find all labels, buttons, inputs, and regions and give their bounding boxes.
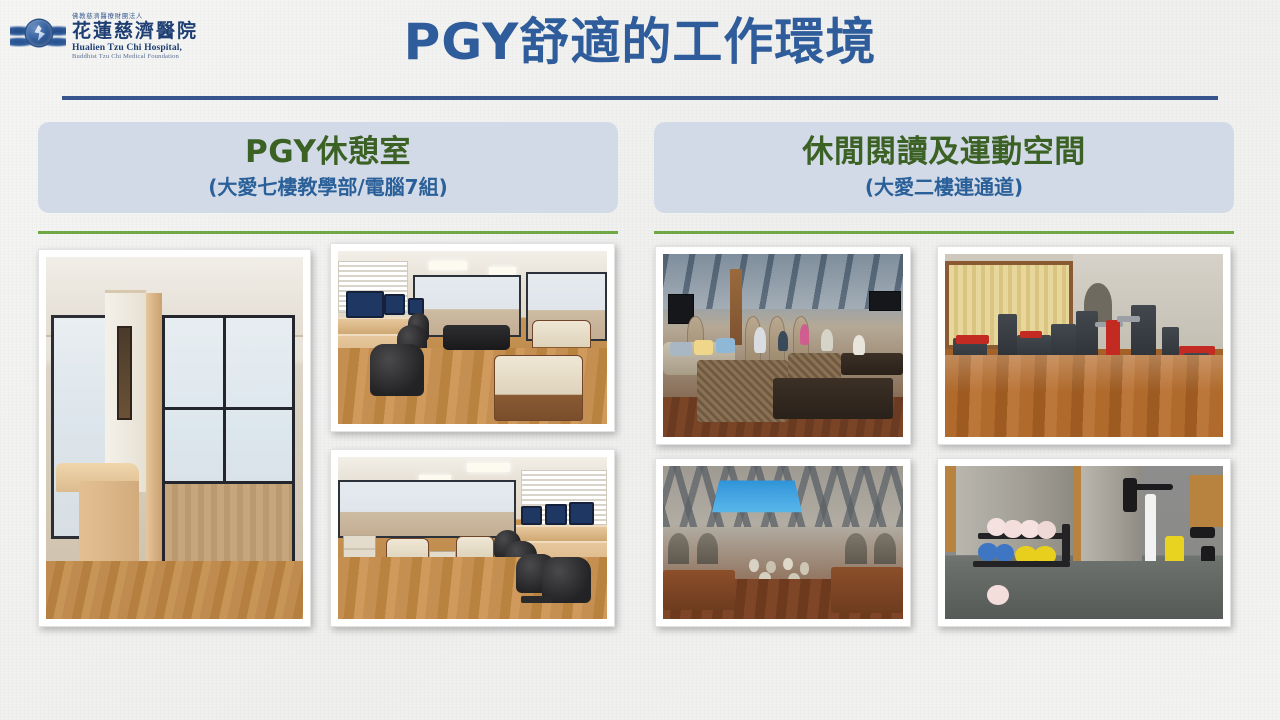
photo-computer-room-2 — [330, 449, 615, 627]
panel-subtitle-right: (大愛二樓連通道) — [664, 175, 1224, 199]
slide-title: PGY舒適的工作環境 — [0, 14, 1280, 72]
panel-title-right: 休閒閱讀及運動空間 — [664, 134, 1224, 171]
panel-header-left: PGY休憩室 (大愛七樓教學部/電腦7組) — [38, 122, 618, 213]
photo-dumbbell-rack — [937, 458, 1231, 627]
panel-leisure-sports: 休閒閱讀及運動空間 (大愛二樓連通道) — [654, 122, 1234, 234]
photo-corridor-entrance — [38, 249, 311, 627]
panel-title-left: PGY休憩室 — [48, 134, 608, 171]
panel-divider-right — [654, 231, 1234, 234]
panel-header-right: 休閒閱讀及運動空間 (大愛二樓連通道) — [654, 122, 1234, 213]
title-divider — [62, 96, 1218, 100]
panel-pgy-lounge: PGY休憩室 (大愛七樓教學部/電腦7組) — [38, 122, 618, 234]
panel-divider-left — [38, 231, 618, 234]
photo-computer-room-1 — [330, 243, 615, 432]
photo-atrium-hall — [655, 458, 911, 627]
slide-canvas: 佛教慈濟醫療財團法人 花蓮慈濟醫院 Hualien Tzu Chi Hospit… — [0, 0, 1280, 720]
photo-gym-machines — [937, 246, 1231, 445]
photo-lounge-cafe — [655, 246, 911, 445]
panel-subtitle-left: (大愛七樓教學部/電腦7組) — [48, 175, 608, 199]
